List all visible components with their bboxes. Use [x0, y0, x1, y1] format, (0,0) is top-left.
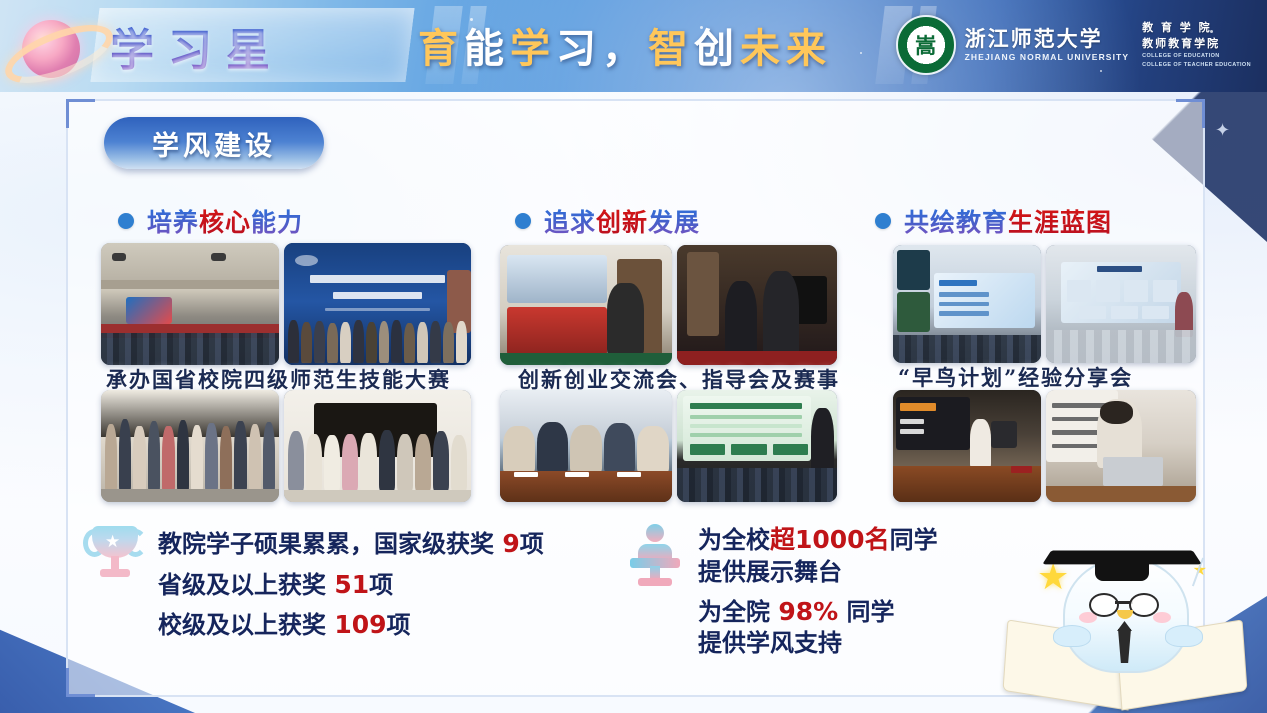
bullet-icon [515, 213, 531, 229]
column-heading-2: 追求创新发展 [515, 203, 700, 239]
trophy-icon: ★ [88, 524, 142, 582]
stat-line-provincial: 省级及以上获奖 51项 [158, 565, 544, 606]
bullet-icon [875, 213, 891, 229]
column-heading-1: 培养核心能力 [118, 203, 303, 239]
stat-line-support-2: 提供学风支持 [698, 628, 938, 659]
photo-col2-2 [677, 245, 837, 365]
stat-line-stage-1: 为全校超1000名同学 [698, 524, 938, 557]
stat-line-support-1: 为全院 98% 同学 [698, 596, 938, 629]
photo-col1-3 [101, 390, 279, 502]
photo-col2-1 [500, 245, 672, 365]
speaker-podium-icon [628, 524, 682, 586]
column-1-heading-part-1: 培养 [147, 208, 199, 237]
photo-col1-4 [284, 390, 471, 502]
photo-col3-4 [1046, 390, 1196, 502]
college-name-en-2: COLLEGE OF TEACHER EDUCATION [1142, 62, 1251, 69]
ringed-planet-icon [6, 10, 98, 84]
college-name-cn-1: 教 育 学 院 [1142, 21, 1251, 35]
slide-root: 学习星 育能学习，智创未来 嵩 浙江师范大学 ZHEJIANG NORMAL U… [0, 0, 1267, 713]
photo-col1-2 [284, 243, 471, 365]
column-heading-3: 共绘教育生涯蓝图 [875, 203, 1112, 239]
stat-line-national: 教院学子硕果累累，国家级获奖 9项 [158, 524, 544, 565]
university-name-en: ZHEJIANG NORMAL UNIVERSITY [965, 52, 1129, 62]
university-seal-icon: 嵩 [896, 15, 956, 75]
slide-header: 学习星 育能学习，智创未来 嵩 浙江师范大学 ZHEJIANG NORMAL U… [0, 0, 1267, 92]
column-1-heading-part-2: 核心 [199, 208, 251, 237]
stat-line-school: 校级及以上获奖 109项 [158, 605, 544, 646]
column-3-heading-part-2: 生涯蓝图 [1008, 208, 1112, 237]
university-logo: 嵩 浙江师范大学 ZHEJIANG NORMAL UNIVERSITY 教 育 … [896, 12, 1251, 78]
column-2-heading-part-1: 追求 [544, 208, 596, 237]
bird-cheek-right [1153, 612, 1171, 623]
stats-awards: ★ 教院学子硕果累累，国家级获奖 9项 省级及以上获奖 51项 校级及以上获奖 … [88, 524, 544, 646]
section-badge-label: 学风建设 [152, 124, 276, 163]
photo-col3-1 [893, 245, 1041, 363]
stats-participation: 为全校超1000名同学 提供展示舞台 为全院 98% 同学 提供学风支持 [628, 524, 938, 659]
section-badge: 学风建设 [104, 117, 324, 169]
seal-char: 嵩 [914, 35, 937, 56]
college-name-en-1: COLLEGE OF EDUCATION [1142, 53, 1251, 60]
column-3-heading-part-1: 共绘教育 [904, 208, 1008, 237]
university-name-cn: 浙江师范大学 [965, 28, 1129, 50]
bullet-icon [118, 213, 134, 229]
photo-col3-2 [1046, 245, 1196, 363]
column-2-heading-part-2: 创新 [596, 208, 648, 237]
photo-col2-4 [677, 390, 837, 502]
photo-col3-3 [893, 390, 1041, 502]
caption-col3: “早鸟计划”经验分享会 [898, 362, 1133, 392]
stat-line-stage-2: 提供展示舞台 [698, 557, 938, 588]
sparkle-icon: ✦ [1215, 120, 1230, 141]
college-name-cn-2: 教师教育学院 [1142, 37, 1251, 51]
bird-wing-right [1165, 625, 1203, 647]
slide-main-title: 育能学习，智创未来 [418, 16, 832, 74]
column-1-heading-part-3: 能力 [251, 208, 303, 237]
graduation-cap-icon [1047, 547, 1197, 581]
bird-wing-left [1053, 625, 1091, 647]
brand-title: 学习星 [110, 14, 284, 78]
photo-col1-1 [101, 243, 279, 365]
photo-col2-3 [500, 390, 672, 502]
graduate-bird-mascot: ★ ★ [1005, 522, 1255, 707]
column-2-heading-part-3: 发展 [648, 208, 700, 237]
